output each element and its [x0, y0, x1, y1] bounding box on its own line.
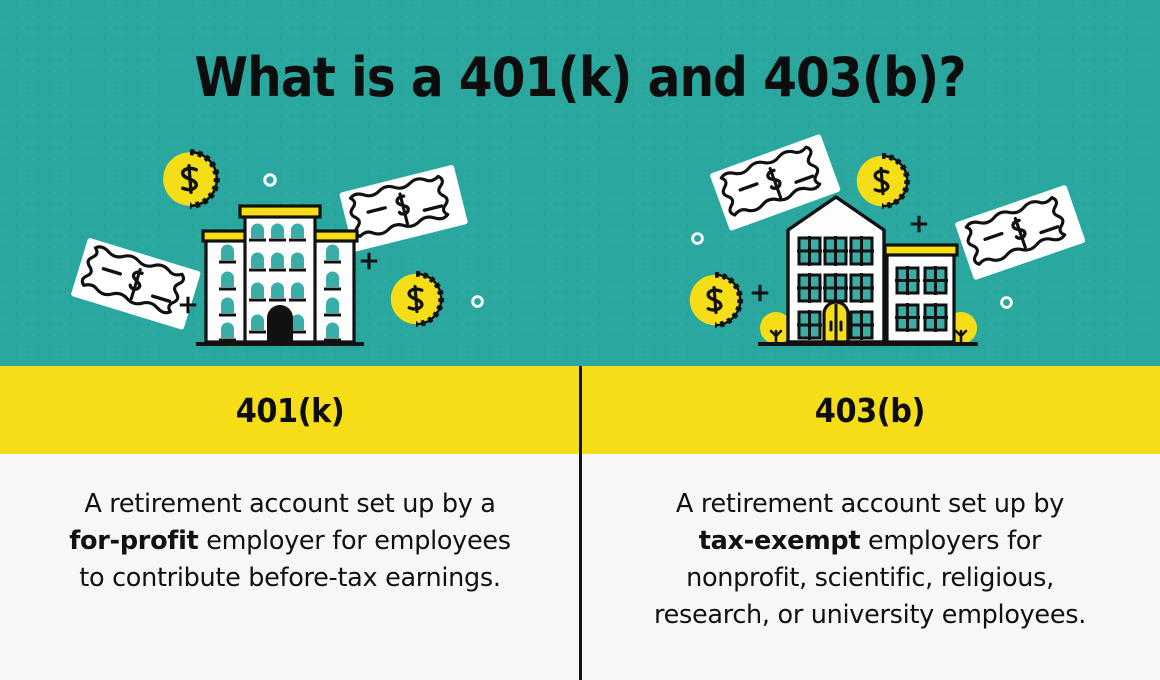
building-wing: [885, 245, 957, 342]
building-structure: [196, 206, 364, 344]
column-divider: [579, 366, 582, 680]
infographic-page: What is a 401(k) and 403(b)?: [0, 0, 1160, 680]
band-half-401k: 401(k): [0, 366, 580, 454]
description-emphasis-401k: for-profit: [69, 526, 198, 556]
description-half-401k: A retirement account set up by a for-pro…: [0, 454, 580, 680]
coin-icon: [163, 152, 217, 206]
band-half-403b: 403(b): [580, 366, 1160, 454]
description-lead-401k: A retirement account set up by a: [84, 489, 495, 519]
building-entrance: [267, 305, 293, 342]
plus-icon: [361, 253, 378, 270]
school-building-illustration: [690, 134, 1086, 344]
coin-icon: [690, 275, 740, 325]
description-emphasis-403b: tax-exempt: [699, 526, 860, 556]
office-building-illustration: [70, 152, 482, 344]
description-lead-403b: A retirement account set up by: [676, 489, 1064, 519]
ring-icon: [473, 297, 483, 307]
ring-icon: [265, 175, 275, 185]
description-half-403b: A retirement account set up by tax-exemp…: [580, 454, 1160, 680]
plus-icon: [752, 285, 769, 302]
building-entrance: [824, 302, 848, 342]
description-text-403b: A retirement account set up by tax-exemp…: [645, 486, 1095, 634]
coin-icon: [391, 274, 441, 324]
banknote-icon: [70, 237, 201, 330]
category-label-401k: 401(k): [236, 391, 345, 430]
ring-icon: [1002, 298, 1012, 308]
ring-icon: [693, 234, 703, 244]
hero-banner: What is a 401(k) and 403(b)?: [0, 0, 1160, 366]
description-text-401k: A retirement account set up by a for-pro…: [65, 486, 515, 597]
illustrations-layer: [0, 0, 1160, 366]
banknote-icon: [954, 184, 1085, 280]
coin-icon: [857, 156, 907, 206]
plus-icon: [911, 216, 928, 233]
building-main-block: [788, 197, 884, 342]
category-label-403b: 403(b): [815, 391, 925, 430]
